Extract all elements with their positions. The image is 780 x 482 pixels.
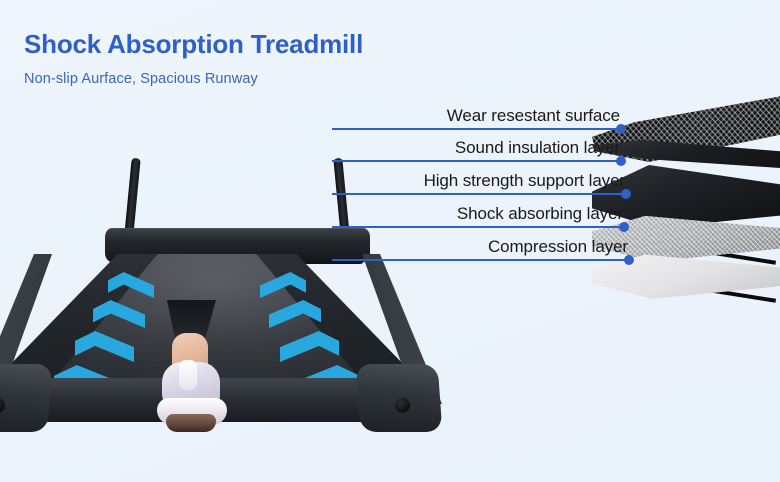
callout-endpoint-dot [621, 189, 631, 199]
callout-endpoint-dot [624, 255, 634, 265]
callout-high-strength-support-layer: High strength support layer [332, 169, 625, 195]
callout-endpoint-dot [616, 156, 626, 166]
callout-compression-layer: Compression layer [332, 235, 628, 261]
callout-wear-resistant-surface: Wear resestant surface [332, 104, 620, 130]
callout-endpoint-dot [619, 222, 629, 232]
callout-label: Wear resestant surface [447, 106, 620, 126]
handrail-post-left [124, 158, 140, 237]
heading-block: Shock Absorption Treadmill Non-slip Aurf… [24, 30, 363, 87]
product-banner: Shock Absorption Treadmill Non-slip Aurf… [0, 0, 780, 482]
callout-leader-line [332, 160, 620, 162]
callout-shock-absorbing-layer: Shock absorbing layer [332, 202, 623, 228]
callout-sound-insulation-layer: Sound insulation layer [332, 136, 620, 162]
callout-leader-line [332, 259, 628, 261]
endcap-bolt-right [395, 398, 410, 413]
treadmill-illustration [0, 150, 480, 460]
callout-label: High strength support layer [424, 171, 625, 191]
page-title: Shock Absorption Treadmill [24, 30, 363, 59]
callout-label: Compression layer [488, 237, 628, 257]
front-endcap-left [0, 364, 52, 432]
callout-leader-line [332, 226, 623, 228]
callout-label: Sound insulation layer [455, 138, 620, 158]
callout-endpoint-dot [616, 124, 626, 134]
callout-label: Shock absorbing layer [457, 204, 623, 224]
callout-leader-line [332, 128, 620, 130]
callout-leader-line [332, 193, 625, 195]
page-subtitle: Non-slip Aurface, Spacious Runway [24, 71, 363, 87]
running-shoe-tongue [179, 360, 197, 390]
running-shoe-toe [166, 414, 216, 432]
